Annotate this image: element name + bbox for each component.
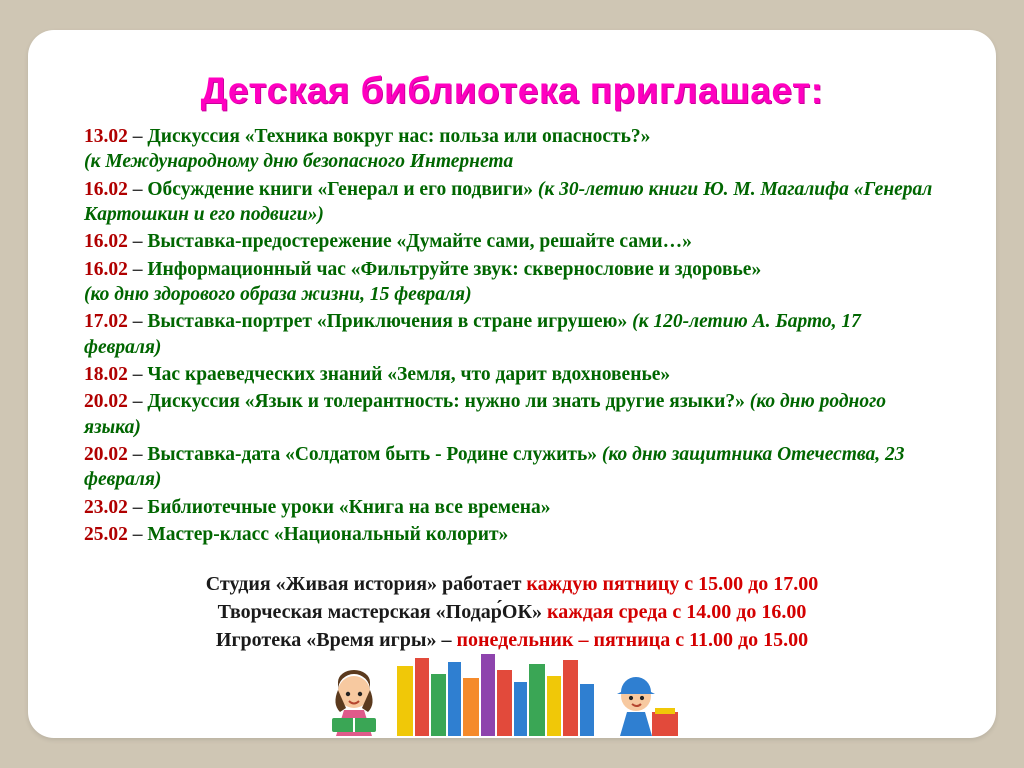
event-date: 20.02 — [84, 391, 128, 412]
event-dash: – — [133, 179, 143, 200]
event-dash: – — [133, 391, 143, 412]
schedule-lead: Студия «Живая история» работает — [206, 573, 527, 595]
event-dash: – — [133, 311, 143, 332]
schedule-line: Творческая мастерская «Подар́ОК» каждая … — [28, 598, 996, 626]
event-note: (ко дню здорового образа жизни, 15 февра… — [84, 284, 472, 305]
event-date: 13.02 — [84, 126, 128, 147]
event-dash: – — [133, 497, 143, 518]
event-text: Дискуссия «Язык и толерантность: нужно л… — [147, 391, 744, 412]
list-item: 23.02 – Библиотечные уроки «Книга на все… — [84, 495, 940, 520]
event-date: 16.02 — [84, 231, 128, 252]
event-dash: – — [133, 444, 143, 465]
list-item: 20.02 – Дискуссия «Язык и толерантность:… — [84, 389, 940, 440]
event-text: Информационный час «Фильтруйте звук: скв… — [147, 259, 761, 280]
event-text: Выставка-дата «Солдатом быть - Родине сл… — [147, 444, 597, 465]
children-with-books-and-bookshelf-illustration — [28, 648, 996, 738]
event-date: 23.02 — [84, 497, 128, 518]
list-item: 16.02 – Обсуждение книги «Генерал и его … — [84, 177, 940, 228]
list-item: 20.02 – Выставка-дата «Солдатом быть - Р… — [84, 442, 940, 493]
event-text: Библиотечные уроки «Книга на все времена… — [147, 497, 550, 518]
list-item: 25.02 – Мастер-класс «Национальный колор… — [84, 522, 940, 547]
schedule-block: Студия «Живая история» работает каждую п… — [28, 570, 996, 655]
event-dash: – — [133, 364, 143, 385]
page-title: Детская библиотека приглашает: — [28, 70, 996, 112]
event-date: 16.02 — [84, 179, 128, 200]
slide: Детская библиотека приглашает: 13.02 – Д… — [28, 30, 996, 738]
list-item: 16.02 – Выставка-предостережение «Думайт… — [84, 229, 940, 254]
event-text: Час краеведческих знаний «Земля, что дар… — [147, 364, 670, 385]
event-text: Выставка-портрет «Приключения в стране и… — [147, 311, 627, 332]
event-note: (к Международному дню безопасного Интерн… — [84, 151, 513, 172]
schedule-lead: Творческая мастерская «Подар́ОК» — [218, 601, 547, 623]
event-dash: – — [133, 524, 143, 545]
schedule-highlight: каждую пятницу с 15.00 до 17.00 — [526, 573, 818, 595]
event-list: 13.02 – Дискуссия «Техника вокруг нас: п… — [84, 124, 940, 548]
event-text: Обсуждение книги «Генерал и его подвиги» — [147, 179, 533, 200]
event-date: 16.02 — [84, 259, 128, 280]
event-dash: – — [133, 231, 143, 252]
event-date: 25.02 — [84, 524, 128, 545]
list-item: 17.02 – Выставка-портрет «Приключения в … — [84, 309, 940, 360]
event-date: 17.02 — [84, 311, 128, 332]
event-date: 18.02 — [84, 364, 128, 385]
event-text: Выставка-предостережение «Думайте сами, … — [147, 231, 691, 252]
list-item: 13.02 – Дискуссия «Техника вокруг нас: п… — [84, 124, 940, 175]
schedule-line: Студия «Живая история» работает каждую п… — [28, 570, 996, 598]
event-dash: – — [133, 259, 143, 280]
event-text: Дискуссия «Техника вокруг нас: польза ил… — [147, 126, 650, 147]
event-text: Мастер-класс «Национальный колорит» — [147, 524, 508, 545]
event-dash: – — [133, 126, 143, 147]
schedule-highlight: каждая среда с 14.00 до 16.00 — [547, 601, 806, 623]
event-date: 20.02 — [84, 444, 128, 465]
list-item: 18.02 – Час краеведческих знаний «Земля,… — [84, 362, 940, 387]
list-item: 16.02 – Информационный час «Фильтруйте з… — [84, 257, 940, 308]
